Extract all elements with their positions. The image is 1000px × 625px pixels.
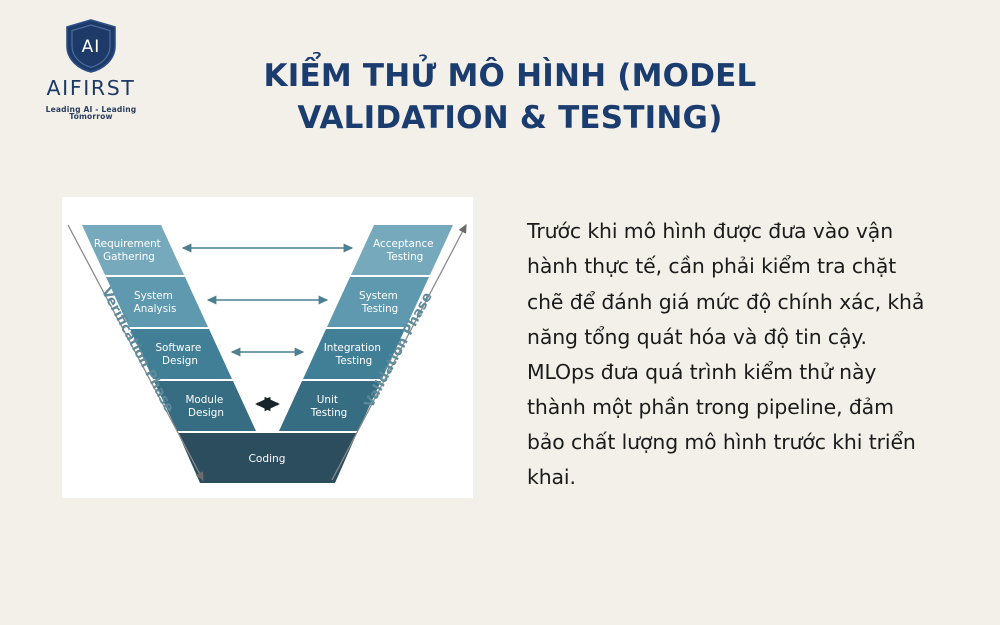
- stage-label-module-design: Module Design: [185, 394, 226, 419]
- brand-name: AIFIRST: [24, 78, 158, 99]
- body-paragraph: Trước khi mô hình được đưa vào vận hành …: [527, 214, 927, 495]
- stage-label-system-analysis: System Analysis: [134, 290, 177, 315]
- page-title: KIỂM THỬ MÔ HÌNH (MODEL VALIDATION & TES…: [230, 56, 790, 139]
- stage-acceptance-testing: [351, 225, 453, 275]
- stage-label-requirement-gathering: Requirement Gathering: [94, 238, 164, 263]
- page-title-line-1: KIỂM THỬ MÔ HÌNH (MODEL: [230, 56, 790, 98]
- page-title-line-2: VALIDATION & TESTING): [230, 98, 790, 140]
- svg-text:AI: AI: [82, 37, 101, 57]
- v-model-diagram: Requirement Gathering System Analysis So…: [62, 197, 473, 498]
- stage-label-system-testing: System Testing: [359, 290, 401, 315]
- stage-label-coding: Coding: [249, 453, 286, 465]
- brand-tagline: Leading AI - Leading Tomorrow: [24, 106, 158, 121]
- brand-logo: AI AIFIRST Leading AI - Leading Tomorrow: [24, 18, 158, 121]
- stage-requirement-gathering: [82, 225, 184, 275]
- shield-ai-icon: AI: [24, 18, 158, 74]
- stage-label-software-design: Software Design: [155, 342, 204, 367]
